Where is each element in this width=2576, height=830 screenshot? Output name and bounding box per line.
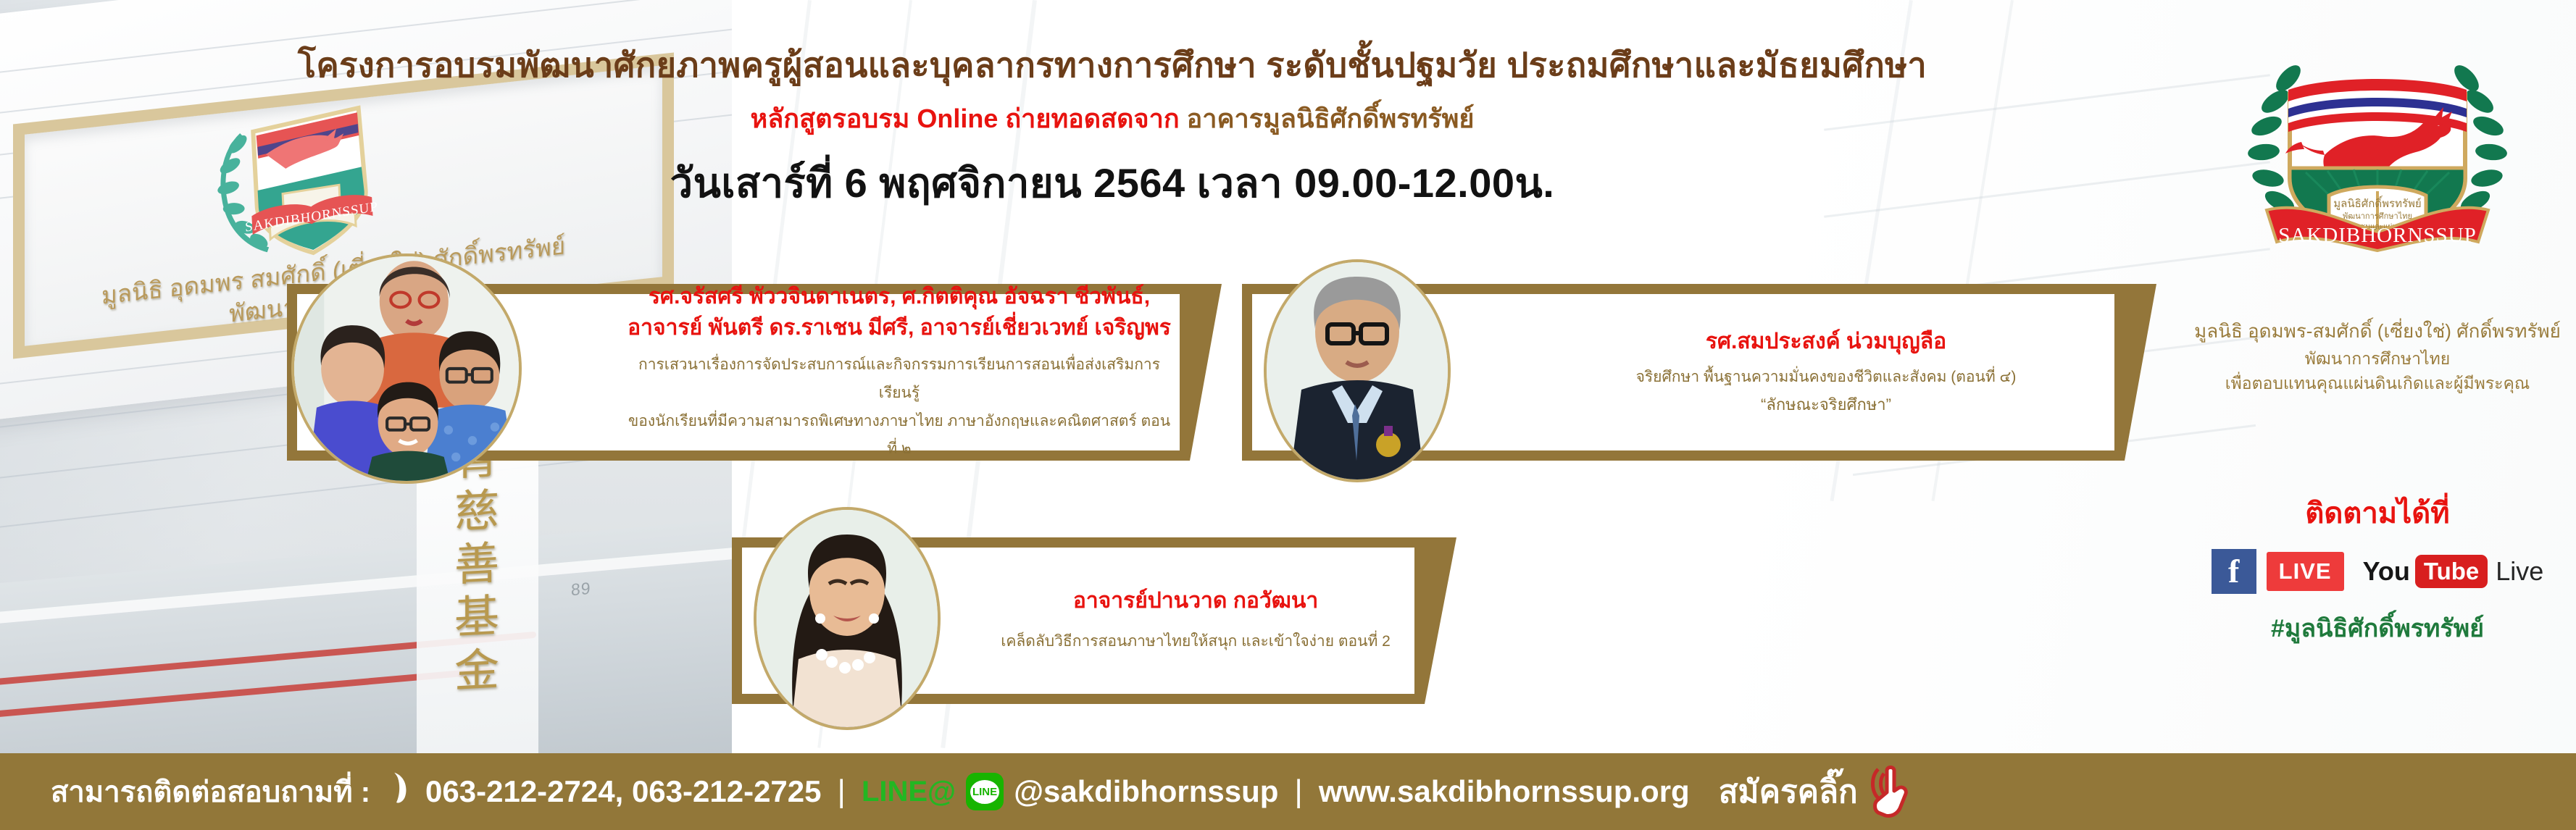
line-icon[interactable]: LINE: [966, 773, 1004, 810]
speaker-name-1: รศ.จรัสศรี พัววจินดาเนตร, ศ.กิตติคุณ อัจ…: [649, 281, 1150, 313]
youtube-you-text: You: [2363, 556, 2410, 587]
follow-section: ติดตามได้ที่ f LIVE You Tube Live #มูลนิ…: [2193, 490, 2562, 647]
page-title: โครงการอบรมพัฒนาศักยภาพครูผู้สอนและบุคลา…: [0, 45, 2225, 85]
hand-pointer-icon[interactable]: [1865, 760, 1920, 823]
subtitle-brown-part: อาคารมูลนิธิศักดิ์พรทรัพย์: [1187, 104, 1475, 133]
facebook-icon[interactable]: f: [2212, 549, 2256, 594]
ceiling-underside: [0, 514, 732, 753]
training-program-banner: SAKDIBHORNSSUP มูลนิธิ อุดมพร สมศักดิ์ (…: [0, 0, 2576, 830]
event-date: วันเสาร์ที่ 6 พฤศจิกายน 2564 เวลา 09.00-…: [0, 151, 2225, 215]
subtitle-red-part: หลักสูตรอบรม Online ถ่ายทอดสดจาก: [751, 104, 1187, 133]
contact-bar: สามารถติดต่อสอบถามที่ : 063-212-2724, 06…: [0, 753, 2576, 830]
crest-book-line-1: มูลนิธิศักดิ์พรทรัพย์: [2333, 196, 2421, 210]
speaker-name-3: อาจารย์ปานวาด กอวัฒนา: [1073, 585, 1318, 617]
crest-ribbon-text: SAKDIBHORNSSUP: [2278, 224, 2476, 247]
foundation-line-2: พัฒนาการศึกษาไทย: [2193, 346, 2562, 372]
foundation-line-1: มูลนิธิ อุดมพร-สมศักดิ์ (เซี่ยงใช่) ศักด…: [2193, 317, 2562, 346]
speaker-name-2: รศ.สมประสงค์ น่วมบุญลือ: [1706, 326, 1946, 358]
apply-label[interactable]: สมัครคลิ๊ก: [1719, 766, 1858, 817]
contact-prefix: สามารถติดต่อสอบถามที่ :: [51, 768, 370, 815]
chinese-char: 善: [439, 536, 514, 593]
facebook-f-glyph: f: [2228, 555, 2239, 588]
address-number: 89: [571, 579, 591, 600]
avatar-speaker-2: [1264, 259, 1451, 482]
phone-icon: [385, 771, 414, 813]
crest-book-line-2: พัฒนาการศึกษาไทย: [2343, 211, 2412, 221]
youtube-live-text: Live: [2496, 556, 2543, 587]
avatar-speaker-3: [754, 507, 941, 730]
youtube-logo[interactable]: You Tube Live: [2363, 555, 2544, 588]
line-label: LINE@: [862, 776, 956, 808]
sakdibhornssup-crest-logo: มูลนิธิศักดิ์พรทรัพย์ พัฒนาการศึกษาไทย เ…: [2219, 28, 2536, 252]
speaker-desc-1a: การเสวนาเรื่องการจัดประสบการณ์และกิจกรรม…: [628, 351, 1171, 408]
foundation-text: มูลนิธิ อุดมพร-สมศักดิ์ (เซี่ยงใช่) ศักด…: [2193, 317, 2562, 396]
speaker-name-1b: อาจารย์ พันตรี ดร.ราเชน มีศรี, อาจารย์เช…: [628, 312, 1171, 344]
speaker-desc-2a: จริยศึกษา พื้นฐานความมั่นคงของชีวิตและสั…: [1636, 364, 2017, 392]
line-handle[interactable]: @sakdibhornssup: [1014, 774, 1278, 809]
chinese-char: 慈: [439, 482, 514, 540]
contact-phones[interactable]: 063-212-2724, 063-212-2725: [425, 774, 821, 809]
panel-text-1: รศ.จรัสศรี พัววจินดาเนตร, ศ.กิตติคุณ อัจ…: [628, 284, 1171, 461]
foundation-line-3: เพื่อตอบแทนคุณแผ่นดินเกิดและผู้มีพระคุณ: [2193, 371, 2562, 396]
facebook-live-badge[interactable]: LIVE: [2267, 552, 2344, 591]
speaker-desc-3: เคล็ดลับวิธีการสอนภาษาไทยให้สนุก และเข้า…: [1001, 628, 1391, 656]
subtitle: หลักสูตรอบรม Online ถ่ายทอดสดจาก อาคารมู…: [0, 98, 2225, 139]
chinese-char: 金: [439, 642, 514, 699]
hashtag: #มูลนิธิศักดิ์พรทรัพย์: [2193, 608, 2562, 647]
speaker-desc-1b: ของนักเรียนที่มีความสามารถพิเศษทางภาษาไท…: [628, 408, 1171, 464]
avatar-speaker-group: [291, 253, 522, 484]
website-url[interactable]: www.sakdibhornssup.org: [1319, 774, 1690, 809]
chinese-char: 基: [439, 589, 514, 646]
header-block: โครงการอบรมพัฒนาศักยภาพครูผู้สอนและบุคลา…: [0, 45, 2225, 215]
follow-title: ติดตามได้ที่: [2193, 490, 2562, 536]
separator: |: [838, 774, 846, 810]
social-icons-row: f LIVE You Tube Live: [2193, 549, 2562, 594]
panel-text-2: รศ.สมประสงค์ น่วมบุญลือ จริยศึกษา พื้นฐา…: [1546, 284, 2106, 461]
youtube-tube-badge: Tube: [2415, 555, 2488, 588]
line-icon-text: LINE: [970, 780, 999, 804]
separator: |: [1294, 774, 1302, 810]
speaker-desc-2b: “ลักษณะจริยศึกษา”: [1761, 391, 1891, 418]
panel-text-3: อาจารย์ปานวาด กอวัฒนา เคล็ดลับวิธีการสอน…: [978, 537, 1413, 704]
